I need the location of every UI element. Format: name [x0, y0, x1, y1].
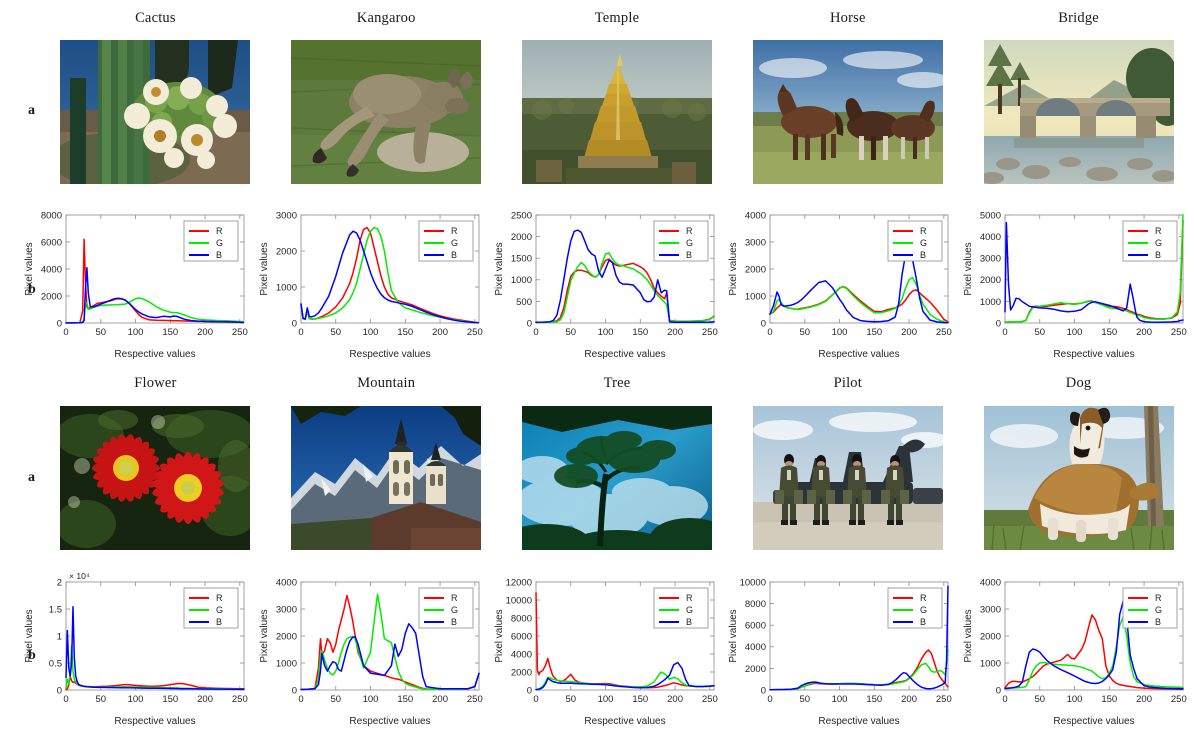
svg-text:R: R	[216, 593, 223, 603]
svg-text:50: 50	[95, 694, 106, 705]
photo-cell-pilot	[732, 406, 963, 550]
panel-title-horse: Horse	[732, 10, 963, 27]
svg-text:3000: 3000	[980, 254, 1001, 265]
photo-cell-dog	[963, 406, 1194, 550]
svg-text:250: 250	[232, 327, 248, 338]
svg-text:G: G	[1155, 605, 1162, 615]
svg-text:B: B	[1155, 617, 1161, 627]
svg-text:4000: 4000	[745, 642, 766, 653]
flower-photo	[60, 406, 250, 550]
svg-text:Respective values: Respective values	[584, 349, 665, 360]
svg-text:150: 150	[397, 327, 413, 338]
photo-cell-flower	[40, 406, 271, 550]
svg-text:2000: 2000	[510, 232, 531, 243]
svg-text:100: 100	[597, 327, 613, 338]
svg-text:Pixel values: Pixel values	[963, 242, 974, 295]
svg-text:250: 250	[467, 694, 483, 705]
panel-title-temple: Temple	[502, 10, 733, 27]
svg-text:B: B	[216, 250, 222, 260]
row-label-a-2: a	[28, 470, 35, 486]
svg-text:1000: 1000	[276, 282, 297, 293]
svg-text:3000: 3000	[745, 237, 766, 248]
panel-title-cactus: Cactus	[40, 10, 271, 27]
svg-text:G: G	[216, 238, 223, 248]
histogram-pilot: 0501001502002500200040006000800010000Res…	[724, 570, 959, 730]
histogram-row-1: 05010015020025002000400060008000Respecti…	[20, 203, 1194, 363]
svg-text:3000: 3000	[980, 604, 1001, 615]
horse-photo	[753, 40, 943, 184]
svg-text:3000: 3000	[276, 210, 297, 221]
svg-text:50: 50	[1035, 327, 1046, 338]
svg-text:150: 150	[162, 327, 178, 338]
svg-text:150: 150	[162, 694, 178, 705]
histogram-horse: 05010015020025001000200030004000Respecti…	[724, 203, 959, 363]
svg-text:10000: 10000	[740, 577, 766, 588]
photo-cell-kangaroo	[271, 40, 502, 184]
svg-text:2500: 2500	[510, 210, 531, 221]
histogram-bridge: 050100150200250010002000300040005000Resp…	[959, 203, 1194, 363]
svg-text:150: 150	[1102, 327, 1118, 338]
svg-text:0: 0	[63, 694, 68, 705]
svg-text:Pixel values: Pixel values	[728, 242, 739, 295]
svg-text:1: 1	[57, 631, 62, 642]
svg-text:8000: 8000	[41, 210, 62, 221]
svg-text:50: 50	[800, 694, 811, 705]
svg-text:10000: 10000	[505, 595, 531, 606]
panel-title-flower: Flower	[40, 375, 271, 392]
svg-text:0: 0	[1003, 694, 1008, 705]
svg-text:Pixel values: Pixel values	[259, 242, 270, 295]
svg-text:0: 0	[533, 327, 538, 338]
svg-text:50: 50	[565, 327, 576, 338]
svg-text:6000: 6000	[745, 621, 766, 632]
svg-text:250: 250	[467, 327, 483, 338]
bridge-photo	[984, 40, 1174, 184]
svg-text:200: 200	[902, 327, 918, 338]
svg-text:0: 0	[63, 327, 68, 338]
svg-text:1500: 1500	[510, 254, 531, 265]
svg-text:200: 200	[667, 327, 683, 338]
svg-text:250: 250	[936, 694, 952, 705]
svg-text:Pixel values: Pixel values	[24, 609, 35, 662]
svg-text:R: R	[451, 226, 458, 236]
svg-text:Respective values: Respective values	[1054, 716, 1135, 727]
svg-text:1000: 1000	[276, 658, 297, 669]
svg-text:R: R	[216, 226, 223, 236]
svg-text:150: 150	[1102, 694, 1118, 705]
svg-text:0: 0	[526, 318, 531, 329]
histogram-dog: 05010015020025001000200030004000Respecti…	[959, 570, 1194, 730]
svg-text:G: G	[920, 238, 927, 248]
svg-text:50: 50	[1035, 694, 1046, 705]
svg-text:200: 200	[667, 694, 683, 705]
svg-text:1000: 1000	[980, 658, 1001, 669]
svg-text:× 10⁴: × 10⁴	[69, 571, 90, 581]
histogram-temple: 05010015020025005001000150020002500Respe…	[490, 203, 725, 363]
svg-text:Pixel values: Pixel values	[728, 609, 739, 662]
svg-text:0: 0	[533, 694, 538, 705]
pilot-photo	[753, 406, 943, 550]
svg-text:150: 150	[397, 694, 413, 705]
svg-text:250: 250	[701, 327, 717, 338]
svg-text:250: 250	[1171, 694, 1187, 705]
svg-text:12000: 12000	[505, 577, 531, 588]
svg-text:0: 0	[57, 318, 62, 329]
histogram-cactus: 05010015020025002000400060008000Respecti…	[20, 203, 255, 363]
svg-text:4000: 4000	[980, 232, 1001, 243]
panel-title-dog: Dog	[963, 375, 1194, 392]
svg-text:R: R	[920, 593, 927, 603]
svg-text:R: R	[686, 226, 693, 236]
svg-text:4000: 4000	[41, 264, 62, 275]
svg-text:50: 50	[330, 327, 341, 338]
histogram-row-2: 05010015020025000.511.52× 10⁴Respective …	[20, 570, 1194, 730]
panel-titles-row-2: FlowerMountainTreePilotDog	[40, 375, 1194, 392]
svg-text:B: B	[1155, 250, 1161, 260]
histogram-flower: 05010015020025000.511.52× 10⁴Respective …	[20, 570, 255, 730]
svg-text:500: 500	[516, 297, 532, 308]
svg-text:B: B	[920, 250, 926, 260]
svg-text:Respective values: Respective values	[114, 716, 195, 727]
svg-text:100: 100	[1067, 327, 1083, 338]
svg-text:0: 0	[768, 327, 773, 338]
photo-cell-temple	[502, 40, 733, 184]
svg-text:6000: 6000	[510, 631, 531, 642]
temple-photo	[522, 40, 712, 184]
svg-text:50: 50	[565, 694, 576, 705]
svg-text:B: B	[451, 617, 457, 627]
svg-text:2000: 2000	[276, 631, 297, 642]
svg-text:150: 150	[867, 694, 883, 705]
svg-text:B: B	[686, 250, 692, 260]
svg-text:R: R	[451, 593, 458, 603]
svg-text:G: G	[920, 605, 927, 615]
svg-text:100: 100	[128, 694, 144, 705]
svg-text:5000: 5000	[980, 210, 1001, 221]
svg-text:4000: 4000	[980, 577, 1001, 588]
svg-text:50: 50	[330, 694, 341, 705]
row-label-a-1: a	[28, 103, 35, 119]
svg-text:100: 100	[128, 327, 144, 338]
photo-cell-tree	[502, 406, 733, 550]
svg-text:2000: 2000	[276, 246, 297, 257]
svg-text:R: R	[1155, 226, 1162, 236]
svg-text:100: 100	[362, 327, 378, 338]
svg-text:200: 200	[432, 694, 448, 705]
svg-text:0: 0	[1003, 327, 1008, 338]
svg-text:1000: 1000	[510, 275, 531, 286]
svg-text:2000: 2000	[41, 291, 62, 302]
svg-text:200: 200	[432, 327, 448, 338]
svg-text:G: G	[451, 238, 458, 248]
svg-text:0: 0	[996, 685, 1001, 696]
svg-text:0: 0	[298, 694, 303, 705]
svg-text:100: 100	[1067, 694, 1083, 705]
svg-text:200: 200	[1136, 694, 1152, 705]
svg-text:0: 0	[57, 685, 62, 696]
svg-text:Pixel values: Pixel values	[494, 609, 505, 662]
panel-title-pilot: Pilot	[732, 375, 963, 392]
svg-text:2000: 2000	[980, 275, 1001, 286]
svg-text:100: 100	[362, 694, 378, 705]
svg-text:6000: 6000	[41, 237, 62, 248]
photo-cell-bridge	[963, 40, 1194, 184]
cactus-photo	[60, 40, 250, 184]
svg-text:2000: 2000	[510, 667, 531, 678]
svg-text:Respective values: Respective values	[819, 349, 900, 360]
histogram-tree: 0501001502002500200040006000800010000120…	[490, 570, 725, 730]
svg-text:B: B	[686, 617, 692, 627]
svg-text:0: 0	[768, 694, 773, 705]
svg-text:200: 200	[197, 327, 213, 338]
svg-text:1000: 1000	[745, 291, 766, 302]
svg-text:8000: 8000	[745, 599, 766, 610]
svg-text:Pixel values: Pixel values	[494, 242, 505, 295]
photo-cell-cactus	[40, 40, 271, 184]
svg-text:Respective values: Respective values	[349, 349, 430, 360]
svg-text:3000: 3000	[276, 604, 297, 615]
svg-text:0: 0	[526, 685, 531, 696]
svg-text:Pixel values: Pixel values	[24, 242, 35, 295]
svg-text:0: 0	[761, 685, 766, 696]
svg-text:50: 50	[95, 327, 106, 338]
svg-text:100: 100	[597, 694, 613, 705]
photo-cell-mountain	[271, 406, 502, 550]
histogram-kangaroo: 0501001502002500100020003000Respective v…	[255, 203, 490, 363]
svg-text:250: 250	[232, 694, 248, 705]
svg-text:50: 50	[800, 327, 811, 338]
svg-text:250: 250	[1171, 327, 1187, 338]
svg-text:Respective values: Respective values	[819, 716, 900, 727]
histogram-mountain: 05010015020025001000200030004000Respecti…	[255, 570, 490, 730]
svg-text:R: R	[920, 226, 927, 236]
panel-titles-row-1: CactusKangarooTempleHorseBridge	[40, 10, 1194, 27]
svg-text:4000: 4000	[510, 649, 531, 660]
svg-text:8000: 8000	[510, 613, 531, 624]
svg-text:1000: 1000	[980, 297, 1001, 308]
panel-title-tree: Tree	[502, 375, 733, 392]
svg-text:150: 150	[867, 327, 883, 338]
svg-text:100: 100	[832, 694, 848, 705]
svg-text:G: G	[451, 605, 458, 615]
photo-cell-horse	[732, 40, 963, 184]
svg-text:4000: 4000	[745, 210, 766, 221]
svg-text:0: 0	[996, 318, 1001, 329]
svg-text:Respective values: Respective values	[349, 716, 430, 727]
svg-text:B: B	[216, 617, 222, 627]
svg-text:0: 0	[761, 318, 766, 329]
svg-text:Respective values: Respective values	[584, 716, 665, 727]
svg-text:200: 200	[1136, 327, 1152, 338]
svg-text:0: 0	[292, 685, 297, 696]
kangaroo-photo	[291, 40, 481, 184]
svg-text:2: 2	[57, 577, 62, 588]
panel-title-mountain: Mountain	[271, 375, 502, 392]
panel-title-kangaroo: Kangaroo	[271, 10, 502, 27]
dog-photo	[984, 406, 1174, 550]
svg-text:1.5: 1.5	[49, 604, 62, 615]
svg-text:200: 200	[197, 694, 213, 705]
svg-text:Pixel values: Pixel values	[963, 609, 974, 662]
svg-text:150: 150	[632, 327, 648, 338]
svg-text:0.5: 0.5	[49, 658, 62, 669]
svg-text:Respective values: Respective values	[114, 349, 195, 360]
svg-text:250: 250	[936, 327, 952, 338]
mountain-photo	[291, 406, 481, 550]
svg-text:G: G	[1155, 238, 1162, 248]
svg-text:4000: 4000	[276, 577, 297, 588]
svg-text:200: 200	[902, 694, 918, 705]
photo-row-1	[40, 40, 1194, 184]
panel-title-bridge: Bridge	[963, 10, 1194, 27]
svg-text:0: 0	[298, 327, 303, 338]
svg-text:0: 0	[292, 318, 297, 329]
svg-text:G: G	[686, 238, 693, 248]
svg-text:250: 250	[701, 694, 717, 705]
svg-text:R: R	[1155, 593, 1162, 603]
svg-text:2000: 2000	[745, 664, 766, 675]
photo-row-2	[40, 406, 1194, 550]
svg-text:R: R	[686, 593, 693, 603]
svg-text:B: B	[451, 250, 457, 260]
svg-text:100: 100	[832, 327, 848, 338]
svg-text:B: B	[920, 617, 926, 627]
tree-photo	[522, 406, 712, 550]
svg-text:2000: 2000	[745, 264, 766, 275]
svg-text:150: 150	[632, 694, 648, 705]
svg-text:Respective values: Respective values	[1054, 349, 1135, 360]
svg-text:2000: 2000	[980, 631, 1001, 642]
svg-text:Pixel values: Pixel values	[259, 609, 270, 662]
svg-text:G: G	[686, 605, 693, 615]
svg-text:G: G	[216, 605, 223, 615]
